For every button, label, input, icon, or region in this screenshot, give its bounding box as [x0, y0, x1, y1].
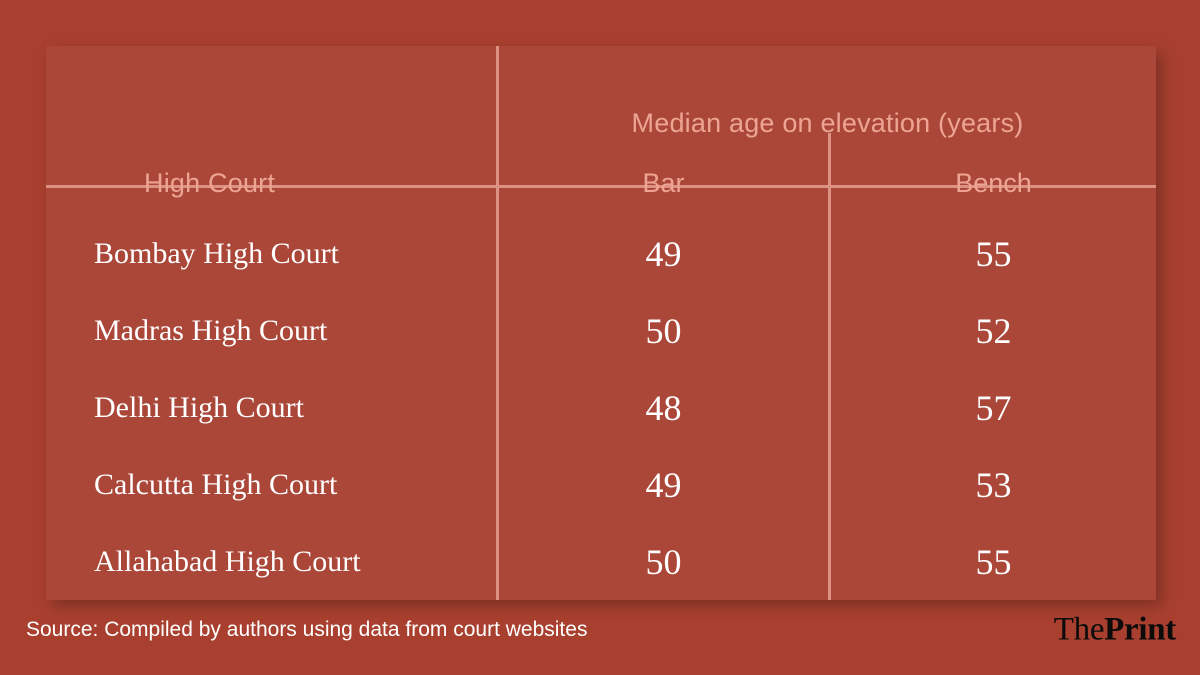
brand-bold-part: Print — [1104, 612, 1176, 648]
cell-court-name: Allahabad High Court — [94, 545, 494, 579]
infographic-canvas: Median age on elevation (years) High Cou… — [0, 0, 1200, 675]
table-row: Delhi High Court 48 57 — [46, 369, 1156, 446]
brand-light-part: The — [1054, 612, 1104, 648]
cell-court-name: Madras High Court — [94, 314, 494, 348]
cell-court-name: Bombay High Court — [94, 237, 494, 271]
table-body: Bombay High Court 49 55 Madras High Cour… — [46, 188, 1156, 600]
theprint-logo: ThePrint — [1054, 612, 1176, 649]
cell-bench-value: 52 — [831, 310, 1156, 352]
cell-court-name: Calcutta High Court — [94, 468, 494, 502]
group-header-median-age: Median age on elevation (years) — [499, 108, 1156, 139]
cell-bench-value: 53 — [831, 464, 1156, 506]
cell-bar-value: 48 — [499, 387, 828, 429]
cell-bar-value: 49 — [499, 233, 828, 275]
data-table-card: Median age on elevation (years) High Cou… — [46, 46, 1156, 600]
cell-bench-value: 55 — [831, 233, 1156, 275]
cell-bar-value: 49 — [499, 464, 828, 506]
table-row: Allahabad High Court 50 55 — [46, 523, 1156, 600]
table-row: Bombay High Court 49 55 — [46, 215, 1156, 292]
cell-bar-value: 50 — [499, 310, 828, 352]
cell-bench-value: 55 — [831, 541, 1156, 583]
table-row: Madras High Court 50 52 — [46, 292, 1156, 369]
cell-bar-value: 50 — [499, 541, 828, 583]
cell-bench-value: 57 — [831, 387, 1156, 429]
cell-court-name: Delhi High Court — [94, 391, 494, 425]
source-note: Source: Compiled by authors using data f… — [26, 618, 587, 642]
table-row: Calcutta High Court 49 53 — [46, 446, 1156, 523]
